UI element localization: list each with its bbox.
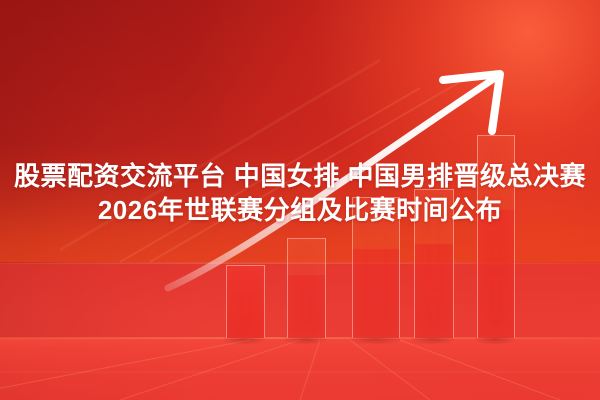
headline: 股票配资交流平台 中国女排 中国男排晋级总决赛 2026年世联赛分组及比赛时间公…	[0, 160, 600, 228]
headline-line-2: 2026年世联赛分组及比赛时间公布	[0, 194, 600, 228]
banner-image: 股票配资交流平台 中国女排 中国男排晋级总决赛 2026年世联赛分组及比赛时间公…	[0, 0, 600, 400]
headline-line-1: 股票配资交流平台 中国女排 中国男排晋级总决赛	[0, 160, 600, 194]
